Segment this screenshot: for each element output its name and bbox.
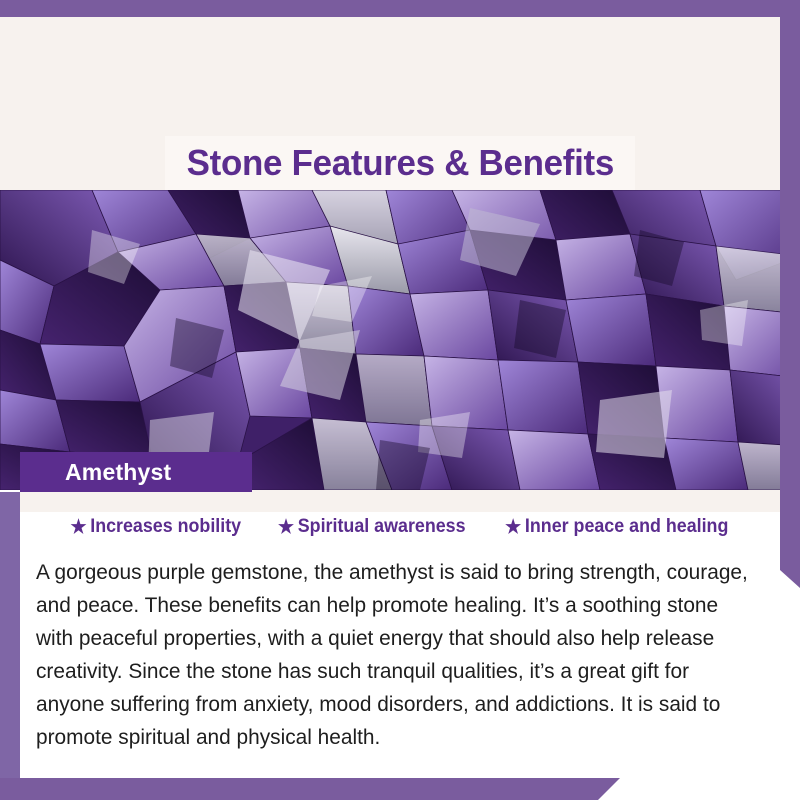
frame-left-bar [0, 492, 20, 800]
frame-top-bar [0, 0, 800, 17]
benefit-item-1: ★ Increases nobility [70, 516, 241, 538]
stone-description: A gorgeous purple gemstone, the amethyst… [36, 556, 756, 754]
benefit-item-3: ★ Inner peace and healing [505, 516, 728, 538]
stone-name: Amethyst [65, 459, 171, 486]
amethyst-photo-artwork [0, 190, 800, 490]
star-icon: ★ [505, 518, 521, 537]
stone-name-banner: Amethyst [20, 452, 252, 492]
star-icon: ★ [70, 518, 86, 537]
benefit-label-2: Spiritual awareness [298, 516, 466, 538]
benefit-label-3: Inner peace and healing [525, 516, 728, 538]
content-divider-strip [20, 490, 800, 512]
amethyst-photo [0, 190, 800, 490]
frame-bottom-bar [0, 778, 620, 800]
benefits-list: ★ Increases nobility ★ Spiritual awarene… [20, 516, 780, 538]
benefit-label-1: Increases nobility [90, 516, 241, 538]
star-icon: ★ [278, 518, 294, 537]
page-title: Stone Features & Benefits [186, 142, 613, 184]
frame-right-bar [780, 0, 800, 588]
product-info-card: Karma Ripple Stone Features & Benefits [0, 0, 800, 800]
section-title-plate: Stone Features & Benefits [165, 136, 635, 190]
benefit-item-2: ★ Spiritual awareness [278, 516, 466, 538]
